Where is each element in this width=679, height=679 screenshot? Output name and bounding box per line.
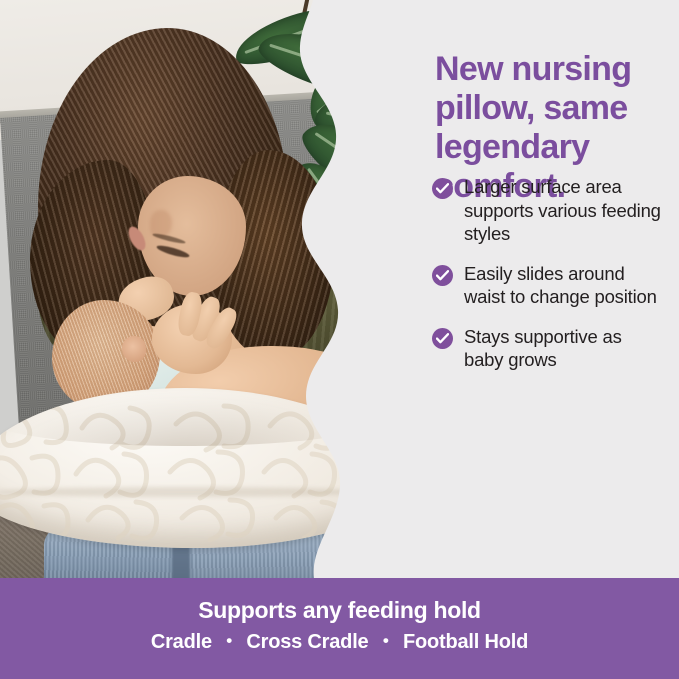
baby-ear bbox=[122, 336, 146, 362]
hold-football: Football Hold bbox=[403, 631, 528, 653]
list-item-label: Larger surface area supports various fee… bbox=[464, 175, 662, 246]
product-infographic: New nursing pillow, same legendary comfo… bbox=[0, 0, 679, 679]
hold-cross-cradle: Cross Cradle bbox=[246, 631, 368, 653]
separator-dot: • bbox=[217, 631, 241, 651]
list-item: Easily slides around waist to change pos… bbox=[432, 262, 662, 309]
list-item: Stays supportive as baby grows bbox=[432, 325, 662, 372]
list-item-label: Easily slides around waist to change pos… bbox=[464, 262, 662, 309]
check-circle-icon bbox=[432, 328, 453, 349]
banner-holds: Cradle • Cross Cradle • Football Hold bbox=[0, 631, 679, 654]
check-circle-icon bbox=[432, 265, 453, 286]
copy-panel: New nursing pillow, same legendary comfo… bbox=[380, 0, 679, 578]
benefit-list: Larger surface area supports various fee… bbox=[432, 175, 662, 388]
banner-title: Supports any feeding hold bbox=[0, 578, 679, 624]
pillow-shading bbox=[0, 391, 383, 445]
list-item: Larger surface area supports various fee… bbox=[432, 175, 662, 246]
lifestyle-photo bbox=[0, 0, 400, 578]
check-circle-icon bbox=[432, 178, 453, 199]
feeding-hold-banner: Supports any feeding hold Cradle • Cross… bbox=[0, 578, 679, 679]
nursing-pillow bbox=[0, 388, 400, 548]
hold-cradle: Cradle bbox=[151, 631, 212, 653]
separator-dot: • bbox=[374, 631, 398, 651]
list-item-label: Stays supportive as baby grows bbox=[464, 325, 662, 372]
